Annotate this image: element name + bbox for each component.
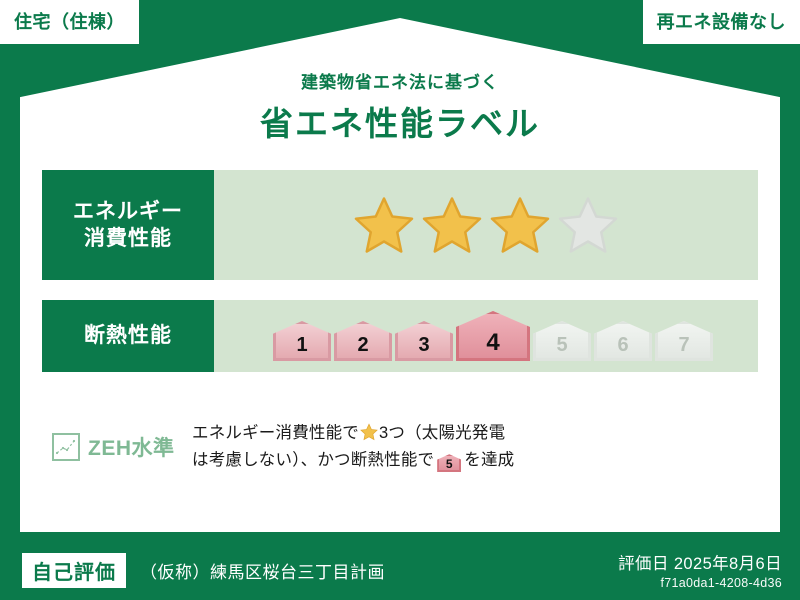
building-type-tag: 住宅（住棟） <box>0 0 139 44</box>
insulation-grade-4: 4 <box>456 311 530 361</box>
renewable-energy-tag: 再エネ設備なし <box>643 0 800 44</box>
label-title-block: 建築物省エネ法に基づく 省エネ性能ラベル <box>0 68 800 145</box>
evaluation-id: f71a0da1-4208-4d36 <box>618 576 782 590</box>
zeh-desc-part3: を達成 <box>464 451 514 469</box>
footer-right: 評価日 2025年8月6日 f71a0da1-4208-4d36 <box>618 550 800 590</box>
insulation-grade-3: 3 <box>395 321 453 361</box>
grade-number: 7 <box>678 334 689 357</box>
footer-left: 自己評価 （仮称）練馬区桜台三丁目計画 <box>0 553 618 588</box>
insulation-grade-2: 2 <box>334 321 392 361</box>
zeh-desc-stars: 3つ（太陽光発電 <box>379 424 505 442</box>
zeh-label: ZEH水準 <box>88 432 175 462</box>
zeh-desc-part1: エネルギー消費性能で <box>192 424 359 442</box>
insulation-performance-label: 断熱性能 <box>42 300 214 372</box>
energy-label-line1: エネルギー <box>73 198 183 225</box>
grade-number: 2 <box>357 334 368 357</box>
inline-grade-badge: 5 <box>437 454 461 472</box>
energy-label-line2: 消費性能 <box>84 225 172 252</box>
grade-number: 4 <box>486 329 499 357</box>
energy-performance-value <box>214 170 758 280</box>
inline-grade-number: 5 <box>446 457 453 471</box>
insulation-grade-scale: 1234567 <box>214 311 758 361</box>
project-name: （仮称）練馬区桜台三丁目計画 <box>140 558 385 583</box>
zeh-section: ZEH水準 エネルギー消費性能で3つ（太陽光発電は考慮しない）、かつ断熱性能で5… <box>42 420 758 474</box>
title-subtitle: 建築物省エネ法に基づく <box>0 68 800 93</box>
evaluation-date: 評価日 2025年8月6日 <box>618 550 782 574</box>
insulation-grade-6: 6 <box>594 321 652 361</box>
zeh-desc-part2: は考慮しない）、かつ断熱性能で <box>192 451 434 469</box>
insulation-grade-1: 1 <box>273 321 331 361</box>
grade-number: 6 <box>617 334 628 357</box>
insulation-label-text: 断熱性能 <box>84 322 172 349</box>
star-icon <box>360 423 378 441</box>
zeh-brand: ZEH水準 <box>42 432 192 462</box>
star-icon-filled <box>489 195 551 255</box>
zeh-description: エネルギー消費性能で3つ（太陽光発電は考慮しない）、かつ断熱性能で5を達成 <box>192 420 758 474</box>
star-rating <box>353 195 619 255</box>
star-icon-filled <box>421 195 483 255</box>
energy-performance-row: エネルギー 消費性能 <box>42 170 758 280</box>
footer-bar: 自己評価 （仮称）練馬区桜台三丁目計画 評価日 2025年8月6日 f71a0d… <box>0 540 800 600</box>
zeh-chart-icon <box>52 433 80 461</box>
grade-number: 3 <box>418 334 429 357</box>
star-icon-empty <box>557 195 619 255</box>
insulation-performance-row: 断熱性能 1234567 <box>42 300 758 372</box>
evaluation-type-badge: 自己評価 <box>22 553 126 588</box>
energy-performance-label: エネルギー 消費性能 <box>42 170 214 280</box>
grade-number: 5 <box>556 334 567 357</box>
insulation-grade-7: 7 <box>655 321 713 361</box>
insulation-grade-5: 5 <box>533 321 591 361</box>
insulation-performance-value: 1234567 <box>214 300 758 372</box>
star-icon-filled <box>353 195 415 255</box>
page-title: 省エネ性能ラベル <box>0 97 800 145</box>
grade-number: 1 <box>296 334 307 357</box>
